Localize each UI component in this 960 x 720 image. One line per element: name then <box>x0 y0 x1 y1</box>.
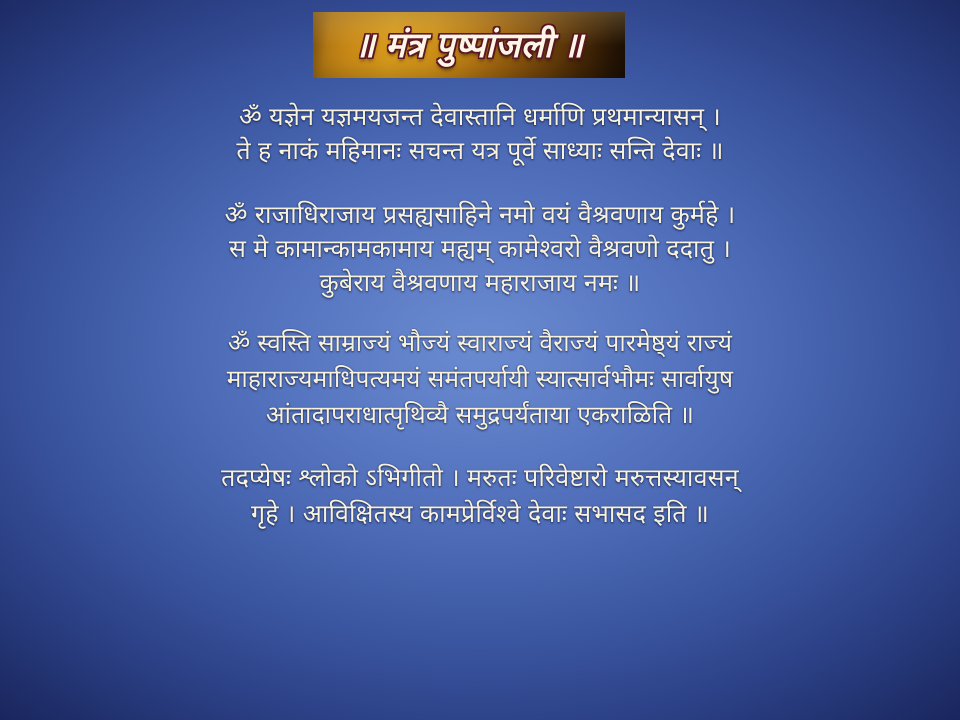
verse-line: तदप्येषः श्लोको ऽभिगीतो । मरुतः परिवेष्ट… <box>40 460 920 496</box>
verse-line: आंतादापराधात्पृथिव्यै समुद्रपर्यंताया एक… <box>40 398 920 434</box>
verse-block-4: तदप्येषः श्लोको ऽभिगीतो । मरुतः परिवेष्ट… <box>0 460 960 532</box>
title-banner: ॥ मंत्र पुष्पांजली ॥ <box>313 12 625 78</box>
verse-line: स मे कामान्कामकामाय मह्यम् कामेश्वरो वैश… <box>40 232 920 266</box>
verse-line: ॐ यज्ञेन यज्ञमयजन्त देवास्तानि धर्माणि प… <box>40 100 920 134</box>
verse-line: माहाराज्यमाधिपत्यमयं समंतपर्यायी स्यात्स… <box>40 362 920 398</box>
page-title: ॥ मंत्र पुष्पांजली ॥ <box>354 28 583 63</box>
verse-line: कुबेराय वैश्रवणाय महाराजाय नमः ॥ <box>40 266 920 300</box>
verse-block-1: ॐ यज्ञेन यज्ञमयजन्त देवास्तानि धर्माणि प… <box>0 100 960 168</box>
verse-line: ते ह नाकं महिमानः सचन्त यत्र पूर्वे साध्… <box>40 134 920 168</box>
verse-list: ॐ यज्ञेन यज्ञमयजन्त देवास्तानि धर्माणि प… <box>0 100 960 532</box>
verse-line: ॐ स्वस्ति साम्राज्यं भौज्यं स्वाराज्यं व… <box>40 326 920 362</box>
slide-canvas: ॥ मंत्र पुष्पांजली ॥ ॐ यज्ञेन यज्ञमयजन्त… <box>0 0 960 720</box>
verse-block-2: ॐ राजाधिराजाय प्रसह्यसाहिने नमो वयं वैश्… <box>0 198 960 300</box>
verse-line: ॐ राजाधिराजाय प्रसह्यसाहिने नमो वयं वैश्… <box>40 198 920 232</box>
verse-block-3: ॐ स्वस्ति साम्राज्यं भौज्यं स्वाराज्यं व… <box>0 326 960 434</box>
verse-line: गृहे । आविक्षितस्य कामप्रेर्विश्वे देवाः… <box>40 496 920 532</box>
